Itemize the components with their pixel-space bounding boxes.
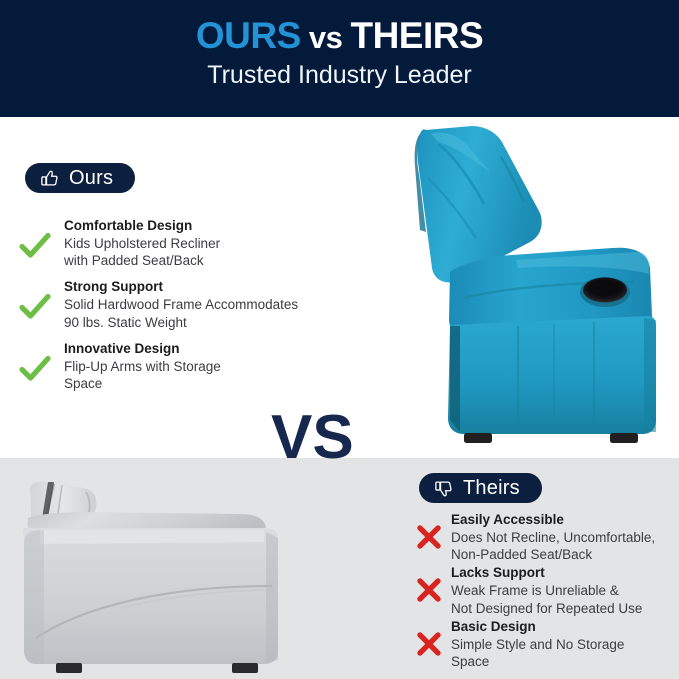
list-item-title: Basic Design	[451, 619, 624, 636]
comparison-infographic: OURS vs THEIRS Trusted Industry Leader	[0, 0, 679, 679]
ours-badge: Ours	[25, 163, 135, 193]
check-icon	[18, 229, 52, 263]
cross-icon	[413, 574, 445, 606]
ours-feature-list: Comfortable Design Kids Upholstered Recl…	[18, 218, 358, 402]
cross-icon	[413, 628, 445, 660]
check-icon	[18, 352, 52, 386]
list-item: Comfortable Design Kids Upholstered Recl…	[18, 218, 358, 269]
list-item-text: Lacks Support Weak Frame is Unreliable &…	[451, 565, 642, 616]
header-banner: OURS vs THEIRS Trusted Industry Leader	[0, 0, 679, 117]
title-theirs: THEIRS	[350, 15, 483, 56]
list-item-desc: Simple Style and No Storage Space	[451, 636, 624, 671]
theirs-feature-list: Easily Accessible Does Not Recline, Unco…	[413, 512, 679, 672]
list-item: Strong Support Solid Hardwood Frame Acco…	[18, 279, 358, 330]
page-title: OURS vs THEIRS	[0, 0, 679, 56]
list-item-desc: Weak Frame is Unreliable & Not Designed …	[451, 582, 642, 617]
list-item-title: Lacks Support	[451, 565, 642, 582]
list-item-title: Innovative Design	[64, 341, 221, 358]
list-item: Lacks Support Weak Frame is Unreliable &…	[413, 565, 679, 616]
list-item-desc: Flip-Up Arms with Storage Space	[64, 358, 221, 393]
list-item-desc: Kids Upholstered Recliner with Padded Se…	[64, 235, 220, 270]
list-item-text: Strong Support Solid Hardwood Frame Acco…	[64, 279, 298, 330]
list-item: Innovative Design Flip-Up Arms with Stor…	[18, 341, 358, 392]
vs-divider-label: VS	[271, 407, 354, 469]
grey-basic-chair-image	[0, 452, 320, 679]
cross-icon	[413, 521, 445, 553]
list-item: Basic Design Simple Style and No Storage…	[413, 619, 679, 670]
title-ours: OURS	[196, 15, 301, 56]
theirs-badge: Theirs	[419, 473, 542, 503]
thumbs-down-icon	[433, 478, 454, 499]
page-subtitle: Trusted Industry Leader	[0, 56, 679, 90]
list-item-desc: Solid Hardwood Frame Accommodates 90 lbs…	[64, 296, 298, 331]
list-item-title: Easily Accessible	[451, 512, 655, 529]
list-item-text: Comfortable Design Kids Upholstered Recl…	[64, 218, 220, 269]
list-item-text: Easily Accessible Does Not Recline, Unco…	[451, 512, 655, 563]
thumbs-up-icon	[39, 168, 60, 189]
ours-badge-label: Ours	[69, 168, 113, 188]
list-item-text: Basic Design Simple Style and No Storage…	[451, 619, 624, 670]
check-icon	[18, 290, 52, 324]
title-vs: vs	[301, 20, 351, 55]
header-content: OURS vs THEIRS Trusted Industry Leader	[0, 0, 679, 89]
list-item-title: Comfortable Design	[64, 218, 220, 235]
theirs-badge-label: Theirs	[463, 478, 520, 498]
list-item: Easily Accessible Does Not Recline, Unco…	[413, 512, 679, 563]
blue-kids-recliner-image	[398, 120, 679, 460]
list-item-text: Innovative Design Flip-Up Arms with Stor…	[64, 341, 221, 392]
list-item-desc: Does Not Recline, Uncomfortable, Non-Pad…	[451, 529, 655, 564]
list-item-title: Strong Support	[64, 279, 298, 296]
